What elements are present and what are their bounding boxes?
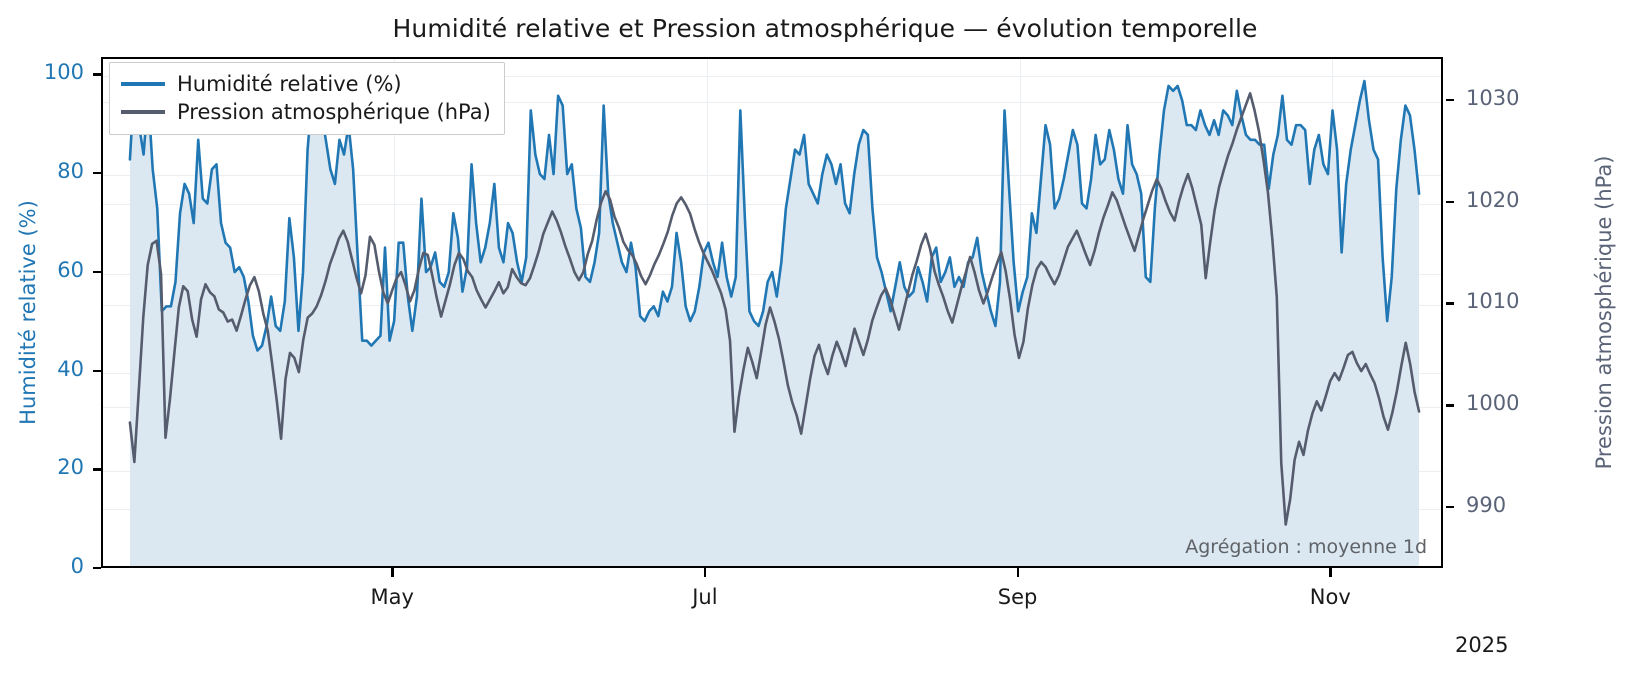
left-axis-tick-label: 20 bbox=[0, 455, 84, 479]
right-axis-tick-label: 1030 bbox=[1466, 86, 1519, 110]
chart-legend[interactable]: Humidité relative (%) Pression atmosphér… bbox=[109, 62, 505, 135]
left-axis-tick-mark bbox=[93, 567, 101, 569]
left-axis-title: Humidité relative (%) bbox=[16, 57, 46, 568]
x-axis-tick-mark bbox=[391, 568, 393, 577]
left-axis-tick-mark bbox=[93, 73, 101, 75]
legend-item-pressure[interactable]: Pression atmosphérique (hPa) bbox=[121, 98, 491, 126]
right-axis-tick-label: 1000 bbox=[1466, 391, 1519, 415]
right-axis-tick-mark bbox=[1446, 302, 1454, 304]
left-axis-tick-label: 0 bbox=[0, 554, 84, 578]
right-axis-tick-label: 990 bbox=[1466, 493, 1506, 517]
right-axis-tick-label: 1010 bbox=[1466, 289, 1519, 313]
left-axis-tick-label: 60 bbox=[0, 258, 84, 282]
left-axis-title-wrapper: Humidité relative (%) bbox=[18, 57, 48, 568]
legend-item-humidity[interactable]: Humidité relative (%) bbox=[121, 70, 491, 98]
legend-label-pressure: Pression atmosphérique (hPa) bbox=[177, 98, 491, 126]
right-axis-tick-mark bbox=[1446, 404, 1454, 406]
x-axis-tick-label: Jul bbox=[635, 585, 775, 609]
chart-title: Humidité relative et Pression atmosphéri… bbox=[0, 14, 1650, 43]
legend-label-humidity: Humidité relative (%) bbox=[177, 70, 402, 98]
plot-inner: Agrégation : moyenne 1d bbox=[103, 59, 1441, 566]
x-axis-tick-mark bbox=[1017, 568, 1019, 577]
right-axis-tick-label: 1020 bbox=[1466, 188, 1519, 212]
x-axis-tick-mark bbox=[1329, 568, 1331, 577]
legend-swatch-humidity bbox=[121, 82, 165, 86]
left-axis-tick-mark bbox=[93, 172, 101, 174]
left-axis-tick-label: 100 bbox=[0, 60, 84, 84]
right-axis-tick-mark bbox=[1446, 506, 1454, 508]
left-axis-tick-label: 80 bbox=[0, 159, 84, 183]
x-axis-year-label: 2025 bbox=[1455, 633, 1508, 657]
x-axis-tick-label: Nov bbox=[1260, 585, 1400, 609]
left-axis-tick-label: 40 bbox=[0, 357, 84, 381]
x-axis-tick-label: May bbox=[322, 585, 462, 609]
left-axis-tick-mark bbox=[93, 370, 101, 372]
series-svg bbox=[103, 59, 1441, 566]
chart-figure: Humidité relative et Pression atmosphéri… bbox=[0, 0, 1650, 688]
left-axis-tick-mark bbox=[93, 271, 101, 273]
right-axis-tick-mark bbox=[1446, 201, 1454, 203]
aggregation-note: Agrégation : moyenne 1d bbox=[1185, 536, 1427, 558]
legend-swatch-pressure bbox=[121, 110, 165, 114]
right-axis-tick-mark bbox=[1446, 99, 1454, 101]
x-axis-tick-mark bbox=[704, 568, 706, 577]
right-axis-title-wrapper: Pression atmosphérique (hPa) bbox=[1592, 57, 1622, 568]
right-axis-title: Pression atmosphérique (hPa) bbox=[1592, 57, 1622, 568]
left-axis-tick-mark bbox=[93, 468, 101, 470]
x-axis-tick-label: Sep bbox=[948, 585, 1088, 609]
